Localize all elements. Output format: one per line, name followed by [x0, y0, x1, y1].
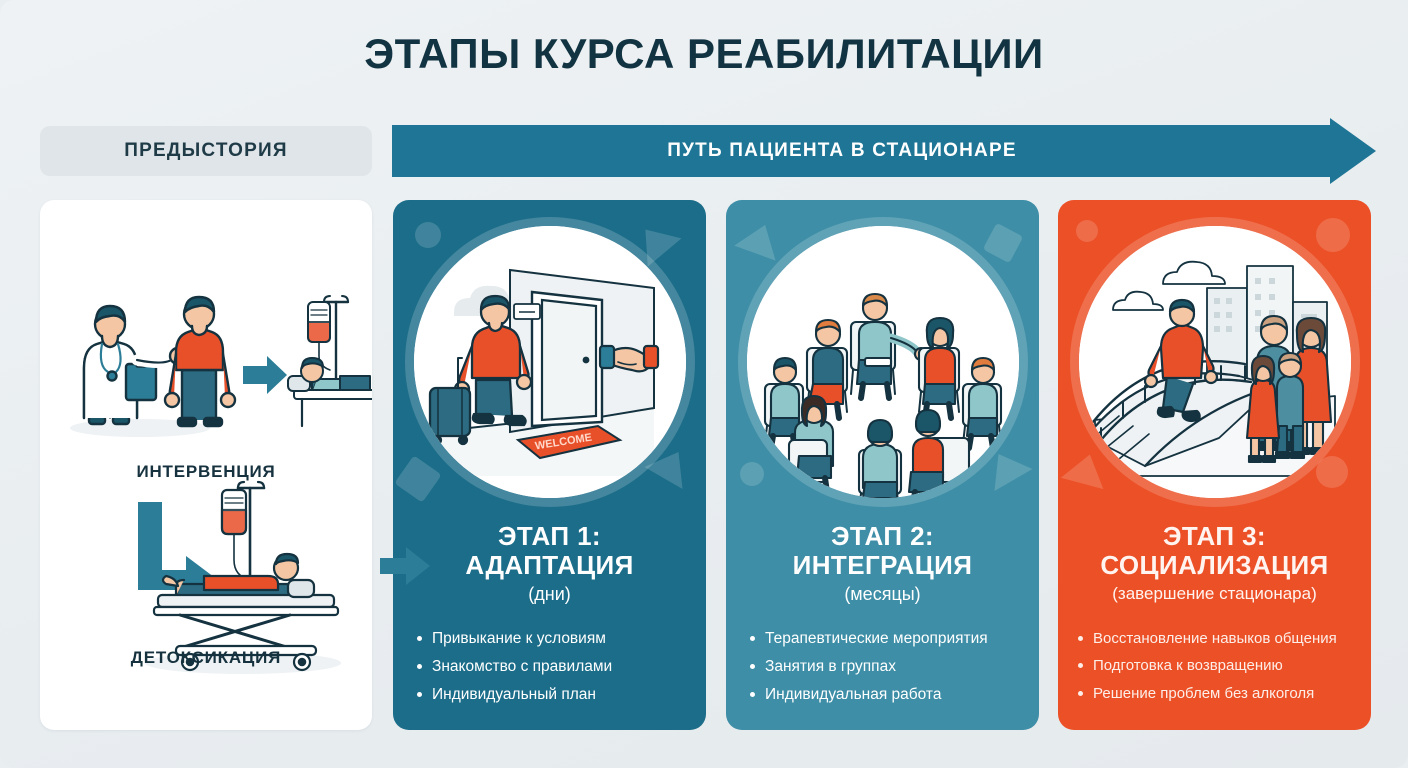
journey-label: ПУТЬ ПАЦИЕНТА В СТАЦИОНАРЕ: [392, 125, 1292, 177]
deco-triangle-icon: [734, 217, 786, 260]
list-item: Восстановление навыков общения: [1076, 628, 1363, 649]
intervention-illustration: [40, 240, 372, 490]
connector-arrow-icon: [380, 545, 430, 587]
stage-card-1[interactable]: WELCOME: [393, 200, 706, 730]
deco-circle-icon: [1076, 220, 1098, 242]
stage-2-heading: ЭТАП 2: ИНТЕГРАЦИЯ (месяцы): [726, 522, 1039, 605]
deco-square-icon: [983, 223, 1024, 264]
stage-3-subtitle: (завершение стационара): [1058, 584, 1371, 604]
intervention-label: ИНТЕРВЕНЦИЯ: [40, 462, 372, 482]
stage-3-bullets: Восстановление навыков общения Подготовк…: [1076, 628, 1363, 710]
list-item: Знакомство с правилами: [415, 656, 692, 678]
page-title: ЭТАПЫ КУРСА РЕАБИЛИТАЦИИ: [0, 30, 1408, 78]
list-item: Индивидуальная работа: [748, 684, 1025, 706]
deco-circle-icon: [1316, 218, 1350, 252]
stage-2-bullets: Терапевтические мероприятия Занятия в гр…: [748, 628, 1025, 712]
stage-3-heading-line2: СОЦИАЛИЗАЦИЯ: [1058, 551, 1371, 580]
detox-label: ДЕТОКСИКАЦИЯ: [40, 648, 372, 668]
stage-card-2[interactable]: ЭТАП 2: ИНТЕГРАЦИЯ (месяцы) Терапевтичес…: [726, 200, 1039, 730]
list-item: Терапевтические мероприятия: [748, 628, 1025, 650]
stage-1-heading: ЭТАП 1: АДАПТАЦИЯ (дни): [393, 522, 706, 605]
list-item: Привыкание к условиям: [415, 628, 692, 650]
deco-square-icon: [394, 455, 441, 502]
stage-3-illustration: [1079, 226, 1351, 498]
stage-1-bullets: Привыкание к условиям Знакомство с прави…: [415, 628, 692, 712]
deco-triangle-icon: [1061, 449, 1111, 489]
stage-2-illustration: [747, 226, 1019, 498]
infographic-root: ЭТАПЫ КУРСА РЕАБИЛИТАЦИИ ПРЕДЫСТОРИЯ ПУТ…: [0, 0, 1408, 768]
list-item: Индивидуальный план: [415, 684, 692, 706]
prehistory-badge: ПРЕДЫСТОРИЯ: [40, 126, 372, 176]
backstory-panel: ИНТЕРВЕНЦИЯ: [40, 200, 372, 730]
stage-card-3[interactable]: ЭТАП 3: СОЦИАЛИЗАЦИЯ (завершение стацион…: [1058, 200, 1371, 730]
stages-row: ИНТЕРВЕНЦИЯ: [40, 200, 1370, 732]
journey-arrow-head-icon: [1330, 118, 1376, 184]
list-item: Решение проблем без алкоголя: [1076, 683, 1363, 704]
stage-2-subtitle: (месяцы): [726, 584, 1039, 605]
stage-3-heading: ЭТАП 3: СОЦИАЛИЗАЦИЯ (завершение стацион…: [1058, 522, 1371, 604]
deco-circle-icon: [740, 462, 764, 486]
stage-2-heading-line1: ЭТАП 2:: [726, 522, 1039, 551]
stage-1-subtitle: (дни): [393, 584, 706, 605]
journey-arrow-banner: ПУТЬ ПАЦИЕНТА В СТАЦИОНАРЕ: [392, 118, 1376, 184]
deco-triangle-icon: [979, 443, 1032, 491]
stage-2-heading-line2: ИНТЕГРАЦИЯ: [726, 551, 1039, 580]
stage-3-heading-line1: ЭТАП 3:: [1058, 522, 1371, 551]
stage-1-heading-line2: АДАПТАЦИЯ: [393, 551, 706, 580]
deco-circle-icon: [415, 222, 441, 248]
stage-1-heading-line1: ЭТАП 1:: [393, 522, 706, 551]
list-item: Подготовка к возвращению: [1076, 655, 1363, 676]
prehistory-label: ПРЕДЫСТОРИЯ: [124, 140, 287, 162]
stage-1-illustration: WELCOME: [414, 226, 686, 498]
list-item: Занятия в группах: [748, 656, 1025, 678]
deco-circle-icon: [1316, 456, 1348, 488]
